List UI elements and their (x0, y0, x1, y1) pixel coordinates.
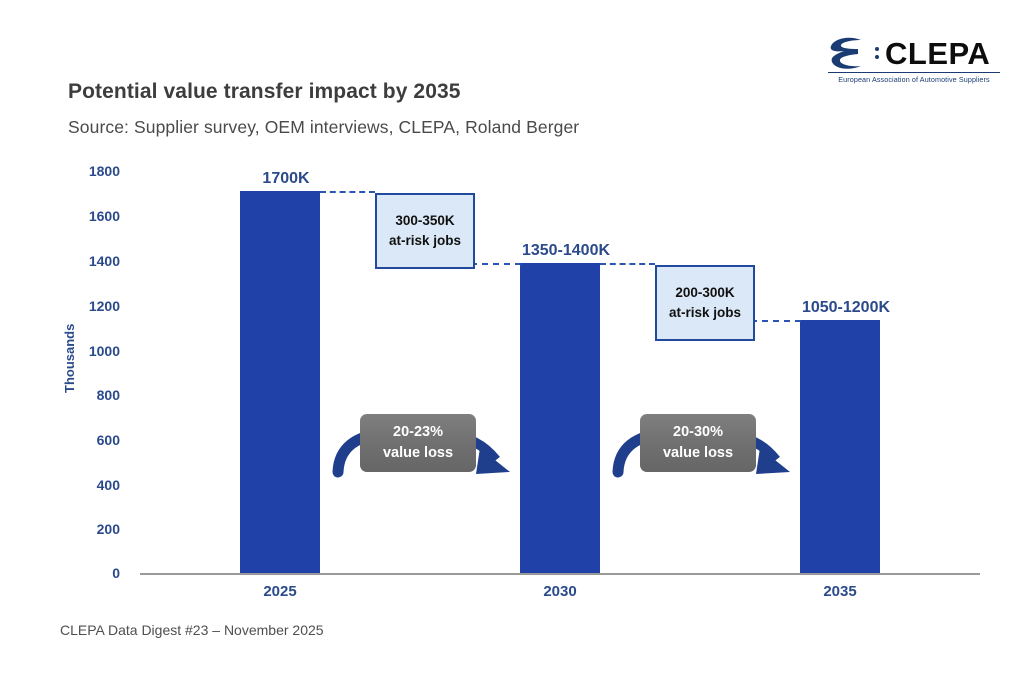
callout-at-risk-jobs-1: 300-350K at-risk jobs (375, 193, 475, 269)
y-tick-label: 1400 (60, 253, 120, 269)
badge-line-2: value loss (663, 443, 733, 464)
y-tick-label: 1200 (60, 298, 120, 314)
bar-2035[interactable] (800, 320, 880, 573)
callout-line-2: at-risk jobs (669, 303, 741, 323)
value-loss-badge-2: 20-30% value loss (640, 414, 756, 472)
y-tick-label: 400 (60, 477, 120, 493)
badge-line-2: value loss (383, 443, 453, 464)
callout-line-1: 200-300K (675, 283, 734, 303)
bar-2025[interactable] (240, 191, 320, 573)
x-tick-label-2035: 2035 (780, 583, 900, 600)
bar-value-label-2030: 1350-1400K (522, 242, 610, 260)
badge-line-1: 20-23% (393, 422, 443, 443)
y-axis-title: Thousands (62, 324, 77, 393)
y-tick-label: 1800 (60, 163, 120, 179)
connector-dash-callout1-to-bar2030 (471, 263, 521, 265)
callout-line-2: at-risk jobs (389, 231, 461, 251)
y-tick-label: 1600 (60, 208, 120, 224)
y-tick-label: 0 (60, 565, 120, 581)
bar-value-label-2025: 1700K (262, 170, 309, 188)
y-tick-label: 600 (60, 432, 120, 448)
connector-dash-bar2030-to-callout2 (600, 263, 655, 265)
footer-note: CLEPA Data Digest #23 – November 2025 (60, 622, 324, 638)
x-axis-line (140, 573, 980, 575)
connector-dash-callout2-to-bar2035 (751, 320, 801, 322)
callout-at-risk-jobs-2: 200-300K at-risk jobs (655, 265, 755, 341)
x-tick-label-2025: 2025 (220, 583, 340, 600)
connector-dash-bar2025-to-callout1 (320, 191, 375, 193)
bar-chart: 1800 1600 1400 1200 1000 800 600 400 200… (0, 0, 1024, 683)
x-tick-label-2030: 2030 (500, 583, 620, 600)
y-tick-label: 200 (60, 521, 120, 537)
callout-line-1: 300-350K (395, 211, 454, 231)
badge-line-1: 20-30% (673, 422, 723, 443)
bar-2030[interactable] (520, 263, 600, 573)
bar-value-label-2035: 1050-1200K (802, 299, 890, 317)
value-loss-badge-1: 20-23% value loss (360, 414, 476, 472)
